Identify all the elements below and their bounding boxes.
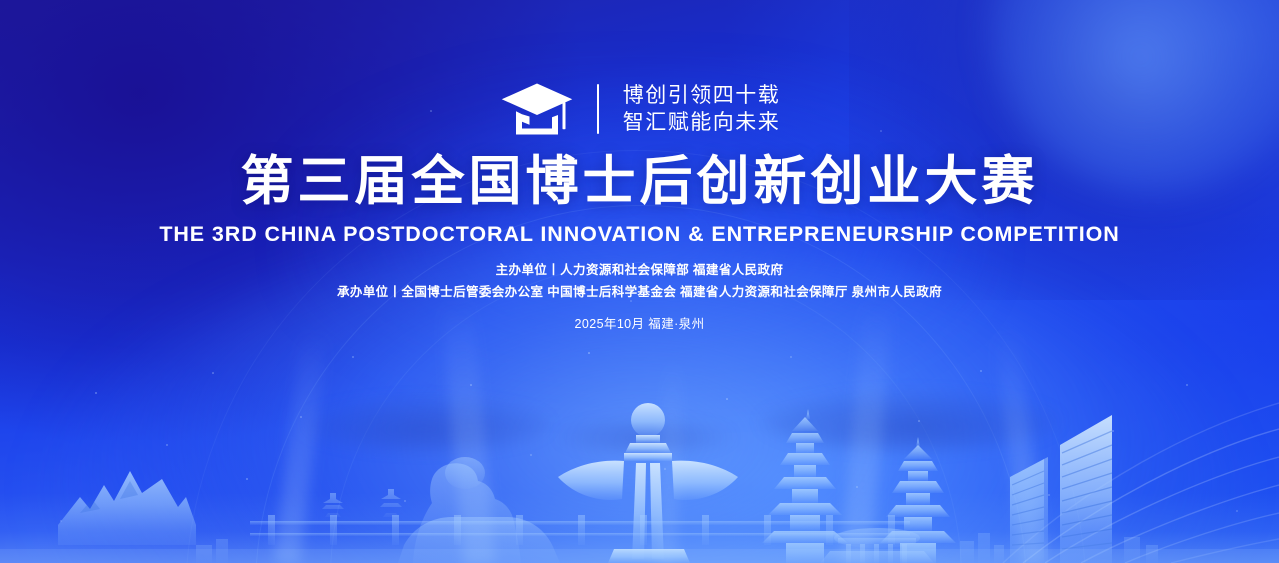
co-host-organizers-line: 承办单位丨全国博士后管委会办公室 中国博士后科学基金会 福建省人力资源和社会保障… bbox=[0, 283, 1279, 301]
slogan-line-1: 博创引领四十载 bbox=[623, 84, 781, 108]
logo-divider bbox=[597, 84, 599, 134]
event-banner: 博创引领四十载 智汇赋能向未来 第三届全国博士后创新创业大赛 THE 3RD C… bbox=[0, 0, 1279, 563]
banner-content: 博创引领四十载 智汇赋能向未来 第三届全国博士后创新创业大赛 THE 3RD C… bbox=[0, 0, 1279, 563]
graduation-cap-emblem bbox=[499, 82, 575, 136]
slogan-block: 博创引领四十载 智汇赋能向未来 bbox=[623, 84, 781, 135]
page-subtitle-english: THE 3RD CHINA POSTDOCTORAL INNOVATION & … bbox=[0, 221, 1279, 247]
page-title: 第三届全国博士后创新创业大赛 bbox=[0, 152, 1279, 212]
slogan-line-2: 智汇赋能向未来 bbox=[623, 111, 781, 135]
logo-lockup: 博创引领四十载 智汇赋能向未来 bbox=[0, 82, 1279, 136]
host-organizers-line: 主办单位丨人力资源和社会保障部 福建省人民政府 bbox=[0, 261, 1279, 279]
event-date-location: 2025年10月 福建·泉州 bbox=[0, 315, 1279, 333]
